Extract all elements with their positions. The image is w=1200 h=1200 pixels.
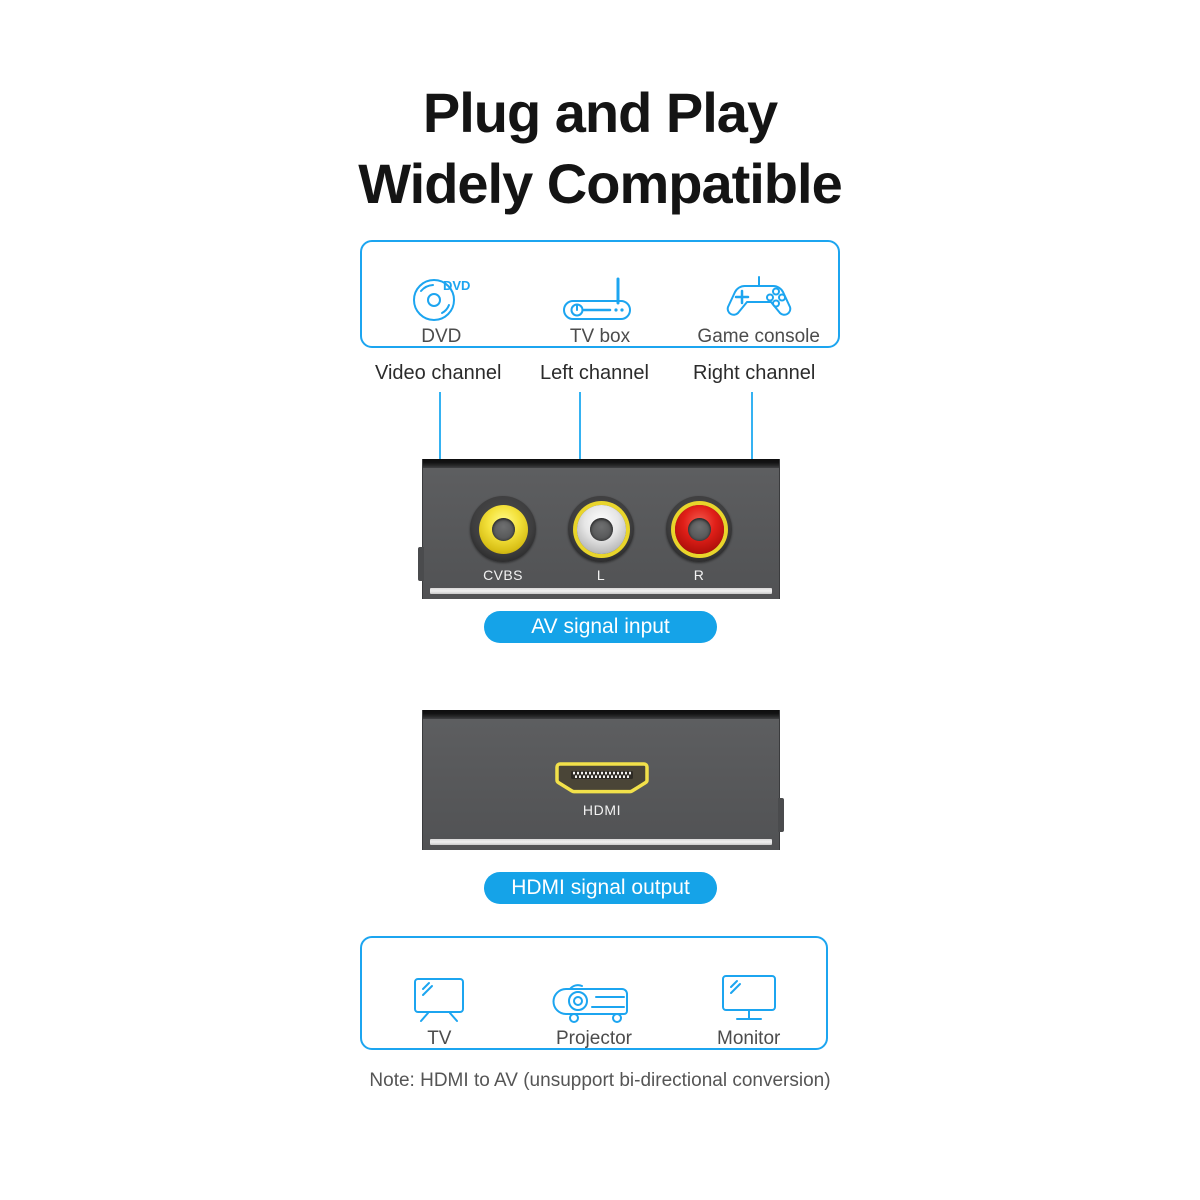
device-bottom-edge	[430, 839, 772, 845]
game-controller-icon	[719, 271, 799, 323]
dest-item-label-projector: Projector	[556, 1029, 632, 1048]
source-item-label-dvd: DVD	[421, 327, 461, 346]
rca-jack-left[interactable]	[568, 496, 634, 562]
rca-ring-white	[577, 505, 626, 554]
infographic-page: Plug and Play Widely Compatible DVD DVD	[0, 0, 1200, 1200]
tv-box-icon	[558, 271, 642, 323]
title-line-2: Widely Compatible	[0, 149, 1200, 220]
rca-core-left	[590, 518, 613, 541]
footer-note: Note: HDMI to AV (unsupport bi-direction…	[0, 1070, 1200, 1092]
source-item-gameconsole: Game console	[679, 242, 838, 346]
channel-label-video: Video channel	[375, 362, 501, 385]
rca-jack-right[interactable]	[666, 496, 732, 562]
dest-item-tv: TV	[362, 938, 517, 1048]
projector-icon	[552, 973, 636, 1025]
channel-label-right: Right channel	[693, 362, 815, 385]
hdmi-port[interactable]	[555, 760, 649, 796]
tv-icon	[403, 973, 475, 1025]
source-item-tvbox: TV box	[521, 242, 680, 346]
av-input-device: CVBS L R	[422, 459, 780, 599]
page-title: Plug and Play Widely Compatible	[0, 78, 1200, 219]
rca-jack-cvbs[interactable]	[470, 496, 536, 562]
dest-item-projector: Projector	[517, 938, 672, 1048]
rca-label-left: L	[556, 567, 646, 583]
hdmi-signal-output-badge: HDMI signal output	[484, 872, 717, 904]
rca-core-right	[688, 518, 711, 541]
channel-label-left: Left channel	[540, 362, 649, 385]
dest-item-monitor: Monitor	[671, 938, 826, 1048]
source-item-dvd: DVD DVD	[362, 242, 521, 346]
title-line-1: Plug and Play	[0, 78, 1200, 149]
device-side-tab-right	[778, 798, 784, 832]
av-signal-input-badge: AV signal input	[484, 611, 717, 643]
rca-label-cvbs: CVBS	[458, 567, 548, 583]
monitor-icon	[713, 973, 785, 1025]
rca-core-cvbs	[492, 518, 515, 541]
dest-item-label-monitor: Monitor	[717, 1029, 780, 1048]
dvd-disc-icon: DVD	[406, 271, 476, 323]
destination-device-panel: TV Projector	[360, 936, 828, 1050]
dest-item-label-tv: TV	[427, 1029, 451, 1048]
device-top-edge	[423, 710, 779, 719]
device-bottom-edge	[430, 588, 772, 594]
device-top-edge	[423, 459, 779, 468]
hdmi-port-label: HDMI	[530, 802, 674, 818]
rca-ring-red	[675, 505, 724, 554]
source-item-label-tvbox: TV box	[570, 327, 630, 346]
source-item-label-gameconsole: Game console	[697, 327, 820, 346]
rca-ring-yellow	[479, 505, 528, 554]
device-side-tab-left	[418, 547, 424, 581]
rca-label-right: R	[654, 567, 744, 583]
dvd-disc-text: DVD	[443, 278, 470, 293]
hdmi-output-device: HDMI	[422, 710, 780, 850]
source-device-panel: DVD DVD TV box	[360, 240, 840, 348]
